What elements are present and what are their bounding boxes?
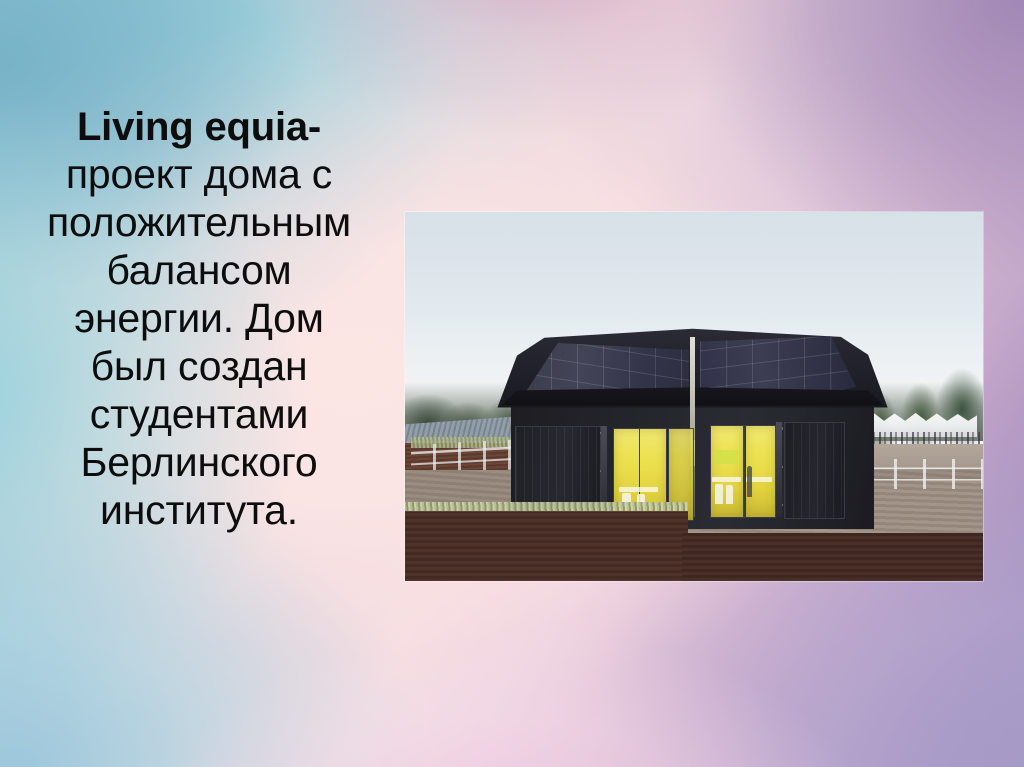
interior-counter xyxy=(619,487,658,492)
planter-wall-front xyxy=(405,511,688,581)
interior-cabinet xyxy=(714,450,739,465)
interior-counter xyxy=(712,477,740,482)
interior-chair xyxy=(726,485,733,504)
slide-text-block: Living equia- проект дома с положительны… xyxy=(0,104,398,535)
slide-title: Living equia- xyxy=(0,104,398,151)
slide-body-line-3: балансом xyxy=(0,247,398,295)
slide-body-line-6: студентами xyxy=(0,391,398,439)
interior-chair xyxy=(715,484,723,504)
slide-photo xyxy=(405,212,983,581)
glazed-door-right-1 xyxy=(710,425,744,518)
glazed-door-right-2 xyxy=(744,425,776,518)
hinge-column-right xyxy=(776,422,782,517)
presentation-slide: Living equia- проект дома с положительны… xyxy=(0,0,1024,767)
folding-shutter-right xyxy=(784,422,845,519)
slide-body-line-5: был создан xyxy=(0,343,398,391)
planter-wall-right xyxy=(682,533,983,581)
slide-body-line-1: проект дома с xyxy=(0,151,398,199)
slide-body-line-8: института. xyxy=(0,487,398,535)
slide-body-line-4: энергии. Дом xyxy=(0,295,398,343)
solar-house xyxy=(497,326,887,529)
slide-body-line-2: положительным xyxy=(0,199,398,247)
photo-canvas xyxy=(405,212,983,581)
interior-person xyxy=(747,466,752,497)
slide-body-line-7: Берлинского xyxy=(0,439,398,487)
